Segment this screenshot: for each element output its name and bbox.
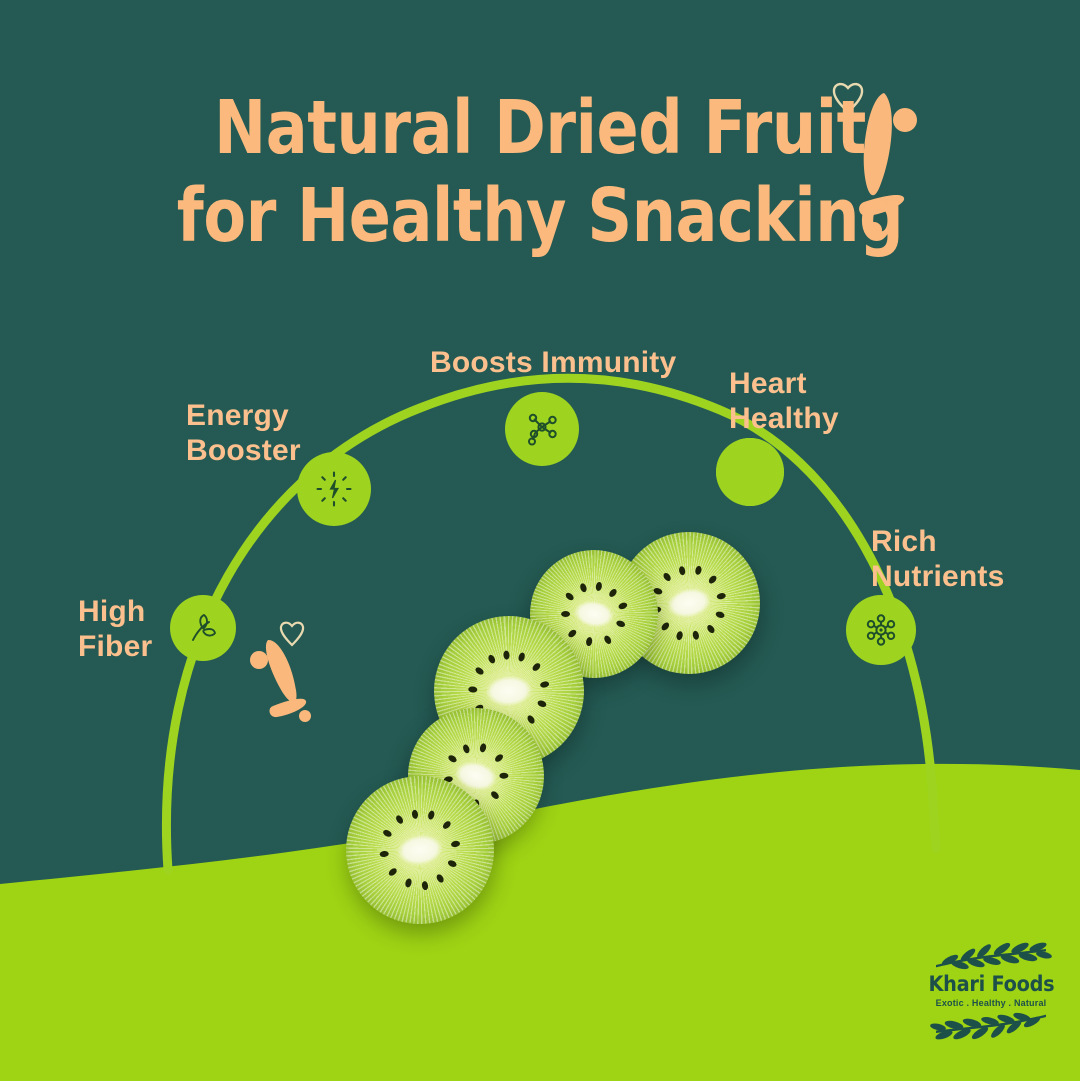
- benefit-node-boosts-immunity[interactable]: [505, 392, 579, 466]
- molecule-icon: [522, 409, 562, 449]
- benefit-label-high-fiber: High Fiber: [78, 594, 152, 664]
- deco-top-right: [834, 84, 917, 238]
- olive-branch-icon: [930, 939, 1052, 973]
- benefit-label-energy-booster: Energy Booster: [186, 398, 301, 468]
- deco-mid-left: [250, 623, 311, 722]
- energy-bolt-icon: [313, 468, 355, 510]
- benefit-node-rich-nutrients[interactable]: [846, 595, 916, 665]
- logo-tagline: Exotic . Healthy . Natural: [936, 997, 1047, 1009]
- benefit-node-high-fiber[interactable]: [170, 595, 236, 661]
- atom-nutrient-icon: [861, 610, 901, 650]
- benefit-node-heart-healthy[interactable]: [716, 438, 784, 506]
- benefit-label-heart-healthy: Heart Healthy: [729, 366, 839, 436]
- benefit-node-energy-booster[interactable]: [297, 452, 371, 526]
- brand-logo[interactable]: Khari Foods Exotic . Healthy . Natural: [916, 916, 1066, 1066]
- benefit-label-boosts-immunity: Boosts Immunity: [430, 345, 676, 380]
- benefit-label-rich-nutrients: Rich Nutrients: [871, 524, 1004, 594]
- leaf-icon: [185, 610, 221, 646]
- olive-branch-icon-bottom: [930, 1009, 1052, 1043]
- heart-icon: [716, 438, 784, 506]
- logo-name: Khari Foods: [928, 973, 1054, 995]
- poster-canvas: Natural Dried Fruit for Healthy Snacking…: [0, 0, 1080, 1081]
